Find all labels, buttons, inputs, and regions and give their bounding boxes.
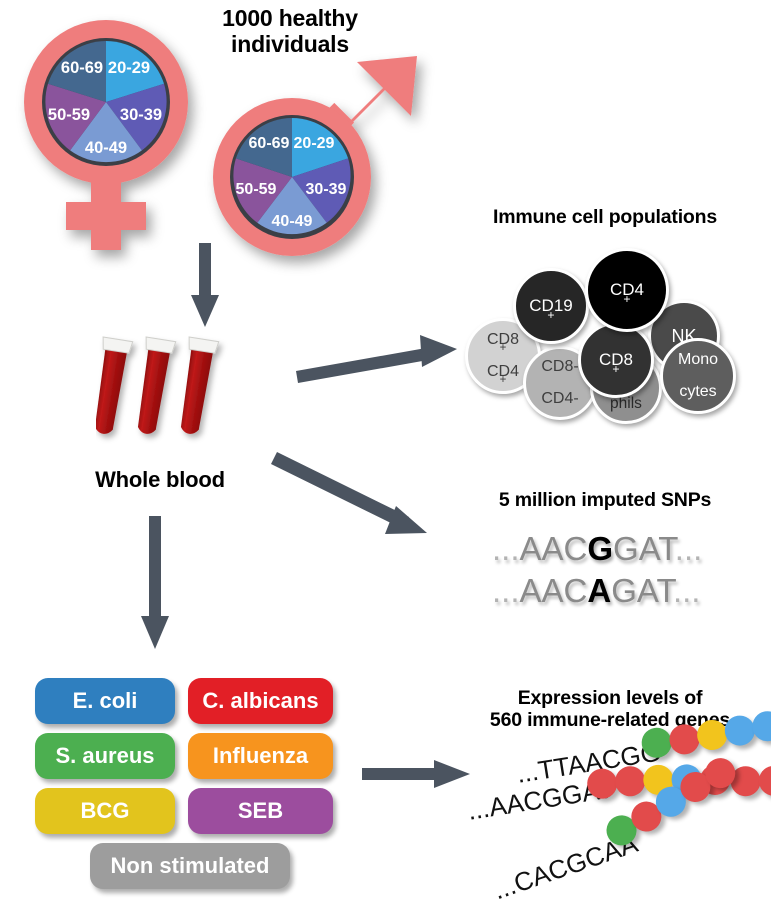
snp2-right: GAT xyxy=(611,572,673,609)
expression-title-line1: Expression levels of xyxy=(455,688,765,710)
cell-label-mono-line1: Mono xyxy=(678,352,718,368)
arrow-stimuli-to-expression xyxy=(362,755,477,795)
cell-cd8: CD8+ xyxy=(578,322,654,398)
cell-label-dn-line1: CD8- xyxy=(541,359,578,375)
snp1-right: GAT xyxy=(613,530,675,567)
blood-tube-3 xyxy=(174,337,219,436)
stimulus-bcg[interactable]: BCG xyxy=(35,788,175,834)
stimulus-s-aureus[interactable]: S. aureus xyxy=(35,733,175,779)
snp1-suffix: ... xyxy=(675,530,703,567)
stimulus-seb[interactable]: SEB xyxy=(188,788,333,834)
stimulus-label: C. albicans xyxy=(202,688,318,714)
whole-blood-label: Whole blood xyxy=(60,468,260,493)
arrow-blood-to-immune xyxy=(294,327,464,377)
arrow-blood-to-stimuli xyxy=(130,516,190,656)
cell-label-neutro-line2: phils xyxy=(603,396,650,412)
cell-monocytes: Mono cytes xyxy=(660,338,736,414)
pie-label-50-59: 50-59 xyxy=(236,181,277,198)
stimulus-label: Non stimulated xyxy=(111,853,270,879)
snp1-prefix: ... xyxy=(492,530,520,567)
snp2-prefix: ... xyxy=(492,572,520,609)
cell-cd19: CD19+ xyxy=(513,268,589,344)
stimulus-influenza[interactable]: Influenza xyxy=(188,733,333,779)
pie-label-40-49: 40-49 xyxy=(85,139,127,157)
blood-tube-1 xyxy=(96,337,133,436)
stimulus-label: Influenza xyxy=(213,743,308,769)
snps-title: 5 million imputed SNPs xyxy=(455,490,755,512)
dna-bead xyxy=(757,764,771,798)
pie-label-20-29: 20-29 xyxy=(294,135,335,152)
blood-tube-icon xyxy=(96,332,256,467)
stimulus-label: E. coli xyxy=(73,688,138,714)
snp2-variant: A xyxy=(587,572,611,609)
stimulus-non-stimulated[interactable]: Non stimulated xyxy=(90,843,290,889)
snp2-suffix: ... xyxy=(673,572,701,609)
male-symbol: 20-29 30-39 40-49 50-59 60-69 xyxy=(205,50,435,265)
stimulus-c-albicans[interactable]: C. albicans xyxy=(188,678,333,724)
snp-sequence-row-2: ...AACAGAT... xyxy=(492,572,700,610)
female-symbol: 20-29 30-39 40-49 50-59 60-69 xyxy=(8,10,228,260)
cell-label-mono-line2: cytes xyxy=(678,384,718,400)
snp1-left: AAC xyxy=(520,530,588,567)
pie-label-30-39: 30-39 xyxy=(306,181,347,198)
arrow-blood-to-snps xyxy=(275,440,455,550)
pie-label-60-69: 60-69 xyxy=(61,59,103,77)
pie-label-60-69: 60-69 xyxy=(249,135,290,152)
snp1-variant: G xyxy=(587,530,613,567)
pie-label-20-29: 20-29 xyxy=(108,59,150,77)
immune-cell-cluster: CD8+ CD4+ CD19+ CD4+ CD8+ NK CD8- CD4- N… xyxy=(455,240,755,420)
snp2-left: AAC xyxy=(520,572,588,609)
pie-label-50-59: 50-59 xyxy=(48,106,90,124)
cell-cd4: CD4+ xyxy=(585,248,669,332)
blood-tube-2 xyxy=(131,337,176,436)
pie-label-30-39: 30-39 xyxy=(120,106,162,124)
pie-label-40-49: 40-49 xyxy=(272,213,313,230)
stimulus-label: SEB xyxy=(238,798,283,824)
stimulus-e-coli[interactable]: E. coli xyxy=(35,678,175,724)
immune-title: Immune cell populations xyxy=(455,207,755,229)
snp-sequence-row-1: ...AACGGAT... xyxy=(492,530,702,568)
stimulus-label: BCG xyxy=(81,798,130,824)
cell-label-dn-line2: CD4- xyxy=(541,391,578,407)
arrow-cohort-to-blood xyxy=(178,243,238,333)
stimulus-label: S. aureus xyxy=(55,743,154,769)
